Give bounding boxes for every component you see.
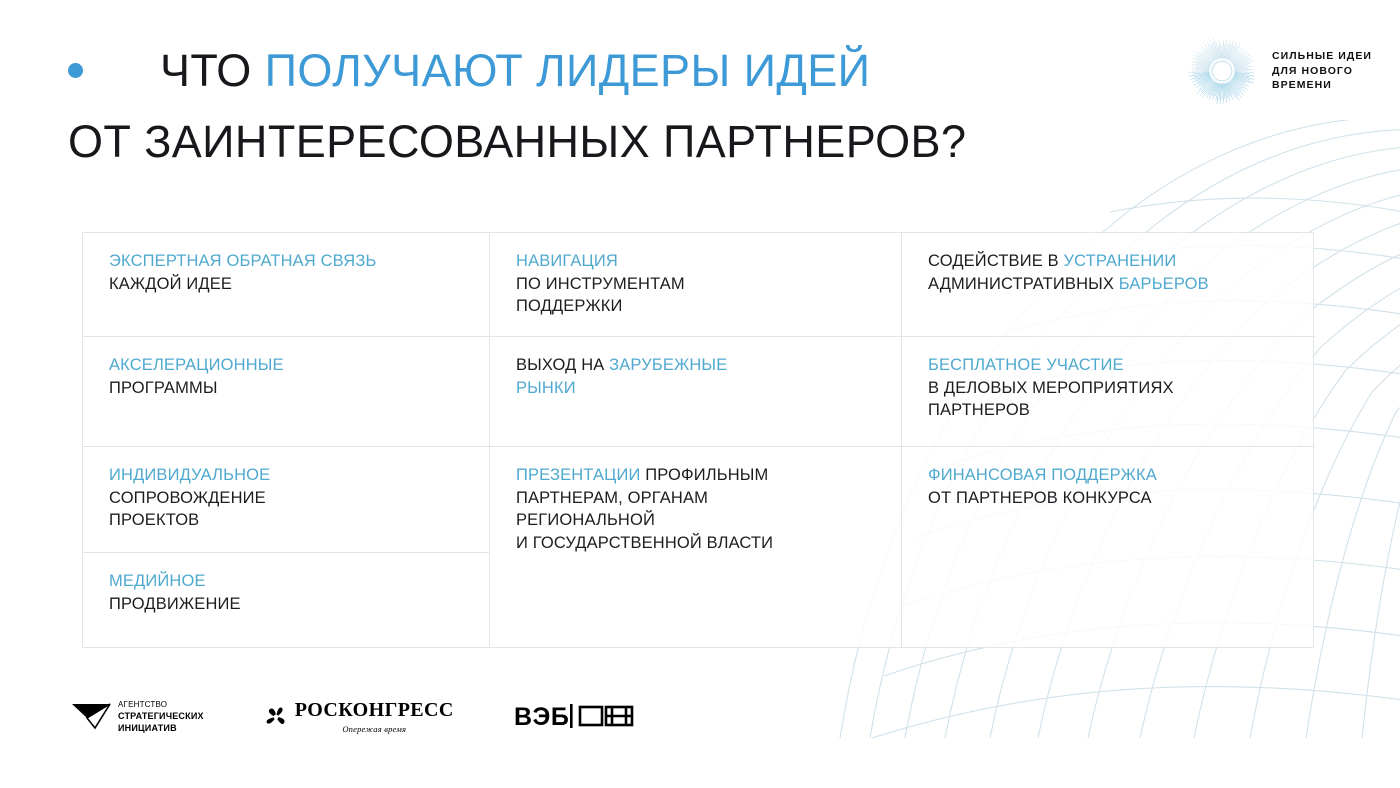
page-title-line-2: ОТ ЗАИНТЕРЕСОВАННЫХ ПАРТНЕРОВ? <box>68 118 966 165</box>
roscongress-logo-text: РОСКОНГРЕСС Опережая время <box>295 700 454 734</box>
accent-text: БЕСПЛАТНОЕ УЧАСТИЕ <box>928 356 1124 374</box>
cell-text: ЭКСПЕРТНАЯ ОБРАТНАЯ СВЯЗЬКАЖДОЙ ИДЕЕ <box>109 250 465 295</box>
plain-text: ОТ ПАРТНЕРОВ КОНКУРСА <box>928 489 1152 507</box>
roscongress-tagline: Опережая время <box>342 724 406 734</box>
plain-text: ПОДДЕРЖКИ <box>516 297 623 315</box>
cell-presentations-authorities[interactable]: ПРЕЗЕНТАЦИИ ПРОФИЛЬНЫМПАРТНЕРАМ, ОРГАНАМ… <box>490 447 901 647</box>
svg-text:ВЭБ: ВЭБ <box>514 703 569 731</box>
accent-text: ПРЕЗЕНТАЦИИ <box>516 466 645 484</box>
plain-text: В ДЕЛОВЫХ МЕРОПРИЯТИЯХ <box>928 379 1174 397</box>
plain-text: ПРОЕКТОВ <box>109 511 199 529</box>
brand-text-line-1: СИЛЬНЫЕ ИДЕИ <box>1272 49 1372 64</box>
accent-text: УСТРАНЕНИИ <box>1064 252 1177 270</box>
roscongress-logo: РОСКОНГРЕСС Опережая время <box>264 700 454 734</box>
plain-text: КАЖДОЙ ИДЕЕ <box>109 275 232 293</box>
cell-text: НАВИГАЦИЯПО ИНСТРУМЕНТАМПОДДЕРЖКИ <box>516 250 877 318</box>
brand-text-line-3: ВРЕМЕНИ <box>1272 78 1372 93</box>
brand-logo: СИЛЬНЫЕ ИДЕИ ДЛЯ НОВОГО ВРЕМЕНИ <box>1184 33 1372 109</box>
plain-text: ПРОФИЛЬНЫМ <box>645 466 768 484</box>
asi-logo: АГЕНТСТВО СТРАТЕГИЧЕСКИХ ИНИЦИАТИВ <box>70 700 204 735</box>
asi-logo-text: АГЕНТСТВО СТРАТЕГИЧЕСКИХ ИНИЦИАТИВ <box>118 700 204 735</box>
roscongress-pinwheel-icon <box>264 705 288 729</box>
veb-rf-wordmark-icon: ВЭБ <box>514 702 636 732</box>
accent-text: ИНДИВИДУАЛЬНОЕ <box>109 466 270 484</box>
cell-text: СОДЕЙСТВИЕ В УСТРАНЕНИИАДМИНИСТРАТИВНЫХ … <box>928 250 1291 295</box>
brand-logo-text: СИЛЬНЫЕ ИДЕИ ДЛЯ НОВОГО ВРЕМЕНИ <box>1272 49 1372 94</box>
cell-individual-support[interactable]: ИНДИВИДУАЛЬНОЕСОПРОВОЖДЕНИЕПРОЕКТОВ <box>83 447 489 553</box>
cell-navigation-support-tools[interactable]: НАВИГАЦИЯПО ИНСТРУМЕНТАМПОДДЕРЖКИ <box>490 233 901 337</box>
page-title-line-1: ЧТО ПОЛУЧАЮТ ЛИДЕРЫ ИДЕЙ <box>160 47 870 94</box>
plain-text: ПРОГРАММЫ <box>109 379 218 397</box>
cell-expert-feedback[interactable]: ЭКСПЕРТНАЯ ОБРАТНАЯ СВЯЗЬКАЖДОЙ ИДЕЕ <box>83 233 489 337</box>
cell-text: ИНДИВИДУАЛЬНОЕСОПРОВОЖДЕНИЕПРОЕКТОВ <box>109 464 465 532</box>
cell-financial-support[interactable]: ФИНАНСОВАЯ ПОДДЕРЖКАОТ ПАРТНЕРОВ КОНКУРС… <box>902 447 1315 647</box>
accent-text: МЕДИЙНОЕ <box>109 572 206 590</box>
asi-line-3: ИНИЦИАТИВ <box>118 723 204 735</box>
cell-free-participation[interactable]: БЕСПЛАТНОЕ УЧАСТИЕВ ДЕЛОВЫХ МЕРОПРИЯТИЯХ… <box>902 337 1315 447</box>
cell-text: БЕСПЛАТНОЕ УЧАСТИЕВ ДЕЛОВЫХ МЕРОПРИЯТИЯХ… <box>928 354 1291 422</box>
plain-text: СОПРОВОЖДЕНИЕ <box>109 489 266 507</box>
column-2: НАВИГАЦИЯПО ИНСТРУМЕНТАМПОДДЕРЖКИВЫХОД Н… <box>490 233 902 647</box>
plain-text: АДМИНИСТРАТИВНЫХ <box>928 275 1119 293</box>
accent-text: РЫНКИ <box>516 379 576 397</box>
footer-logos: АГЕНТСТВО СТРАТЕГИЧЕСКИХ ИНИЦИАТИВ РОСКО… <box>70 700 636 735</box>
cell-text: АКСЕЛЕРАЦИОННЫЕПРОГРАММЫ <box>109 354 465 399</box>
title-bullet-dot <box>68 63 83 78</box>
column-3: СОДЕЙСТВИЕ В УСТРАНЕНИИАДМИНИСТРАТИВНЫХ … <box>902 233 1315 647</box>
cell-text: ПРЕЗЕНТАЦИИ ПРОФИЛЬНЫМПАРТНЕРАМ, ОРГАНАМ… <box>516 464 877 554</box>
cell-foreign-markets[interactable]: ВЫХОД НА ЗАРУБЕЖНЫЕРЫНКИ <box>490 337 901 447</box>
accent-text: АКСЕЛЕРАЦИОННЫЕ <box>109 356 284 374</box>
plain-text: ПРОДВИЖЕНИЕ <box>109 595 241 613</box>
cell-administrative-barriers[interactable]: СОДЕЙСТВИЕ В УСТРАНЕНИИАДМИНИСТРАТИВНЫХ … <box>902 233 1315 337</box>
plain-text: ВЫХОД НА <box>516 356 609 374</box>
accent-text: ЭКСПЕРТНАЯ ОБРАТНАЯ СВЯЗЬ <box>109 252 376 270</box>
brand-text-line-2: ДЛЯ НОВОГО <box>1272 64 1372 79</box>
plain-text: ПО ИНСТРУМЕНТАМ <box>516 275 685 293</box>
plain-text: И ГОСУДАРСТВЕННОЙ ВЛАСТИ <box>516 534 773 552</box>
plain-text: ПАРТНЕРАМ, ОРГАНАМ <box>516 489 708 507</box>
plain-text: СОДЕЙСТВИЕ В <box>928 252 1064 270</box>
benefits-matrix: ЭКСПЕРТНАЯ ОБРАТНАЯ СВЯЗЬКАЖДОЙ ИДЕЕАКСЕ… <box>82 232 1314 648</box>
plain-text: РЕГИОНАЛЬНОЙ <box>516 511 655 529</box>
sunburst-logo-icon <box>1184 33 1260 109</box>
accent-text: НАВИГАЦИЯ <box>516 252 618 270</box>
roscongress-name: РОСКОНГРЕСС <box>295 700 454 720</box>
cell-text: ВЫХОД НА ЗАРУБЕЖНЫЕРЫНКИ <box>516 354 877 399</box>
page-title-highlight: ПОЛУЧАЮТ ЛИДЕРЫ ИДЕЙ <box>265 45 871 96</box>
cell-text: ФИНАНСОВАЯ ПОДДЕРЖКАОТ ПАРТНЕРОВ КОНКУРС… <box>928 464 1291 509</box>
page-title-plain: ЧТО <box>160 45 265 96</box>
asi-arrow-icon <box>70 701 112 735</box>
column-1: ЭКСПЕРТНАЯ ОБРАТНАЯ СВЯЗЬКАЖДОЙ ИДЕЕАКСЕ… <box>83 233 490 647</box>
accent-text: ЗАРУБЕЖНЫЕ <box>609 356 727 374</box>
accent-text: ФИНАНСОВАЯ ПОДДЕРЖКА <box>928 466 1157 484</box>
cell-acceleration-programs[interactable]: АКСЕЛЕРАЦИОННЫЕПРОГРАММЫ <box>83 337 489 447</box>
veb-rf-logo: ВЭБ <box>514 702 636 732</box>
slide-root: ЧТО ПОЛУЧАЮТ ЛИДЕРЫ ИДЕЙ ОТ ЗАИНТЕРЕСОВА… <box>0 0 1400 788</box>
cell-text: МЕДИЙНОЕПРОДВИЖЕНИЕ <box>109 570 465 615</box>
asi-line-1: АГЕНТСТВО <box>118 700 204 711</box>
cell-media-promotion[interactable]: МЕДИЙНОЕПРОДВИЖЕНИЕ <box>83 553 489 647</box>
accent-text: БАРЬЕРОВ <box>1119 275 1209 293</box>
asi-line-2: СТРАТЕГИЧЕСКИХ <box>118 711 204 723</box>
plain-text: ПАРТНЕРОВ <box>928 401 1030 419</box>
